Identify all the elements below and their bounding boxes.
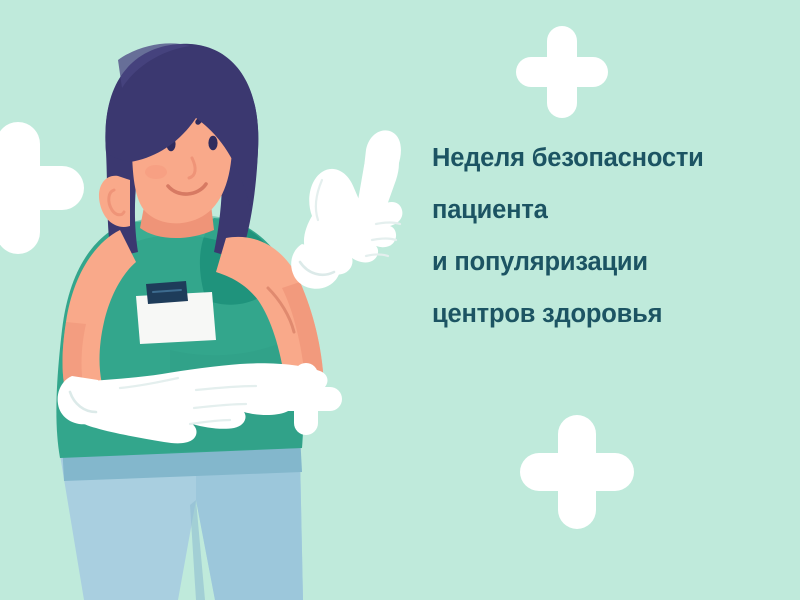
promo-banner: Неделя безопасности пациента и популяриз… — [0, 0, 800, 600]
headline: Неделя безопасности пациента и популяриз… — [432, 132, 772, 340]
pants-shadow — [196, 455, 303, 600]
eye-right — [208, 136, 217, 150]
pointing-glove — [291, 130, 402, 288]
cheek — [145, 165, 167, 179]
ear — [99, 176, 130, 227]
headline-line-4: центров здоровья — [432, 288, 772, 340]
headline-line-1: Неделя безопасности — [432, 132, 772, 184]
pants-group — [60, 434, 303, 600]
headline-line-2: пациента — [432, 184, 772, 236]
headline-line-3: и популяризации — [432, 236, 772, 288]
